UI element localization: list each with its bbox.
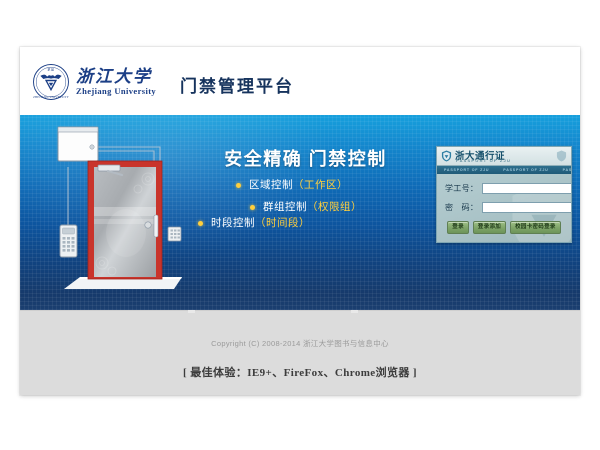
login-panel: 浙大通行证 PASSPORT OF ZJU PASSPORT OF ZJU PA… <box>436 146 572 243</box>
hero-banner: 安全精确 门禁控制 区域控制 （工作区） 群组控制 （权限组） 时段控制 （时间… <box>20 115 580 310</box>
shield-icon <box>441 150 452 162</box>
feature-item-group: 群组控制 （权限组） <box>198 199 413 215</box>
bullet-icon <box>250 205 255 210</box>
shield-watermark-icon <box>556 150 567 162</box>
password-input[interactable] <box>482 202 572 213</box>
site-footer: Copyright (C) 2008-2014 浙江大学图书与信息中心 [ 最佳… <box>20 310 580 395</box>
feature-label: 群组控制 <box>263 199 307 215</box>
login-title-en: PASSPORT OF ZJU <box>456 158 511 163</box>
svg-text:求是: 求是 <box>47 67 54 72</box>
feature-label: 区域控制 <box>249 177 293 193</box>
page-card: ZHEJIANG UNIVERSITY 求是 浙江大学 Zhejiang Uni… <box>20 47 580 395</box>
strip-text: PASSPORT OF ZJU <box>496 168 555 172</box>
feature-detail: （时间段） <box>255 215 310 231</box>
strip-text: PASSPORT OF ZJU <box>437 168 496 172</box>
userid-input[interactable] <box>482 183 572 194</box>
bullet-icon <box>236 183 241 188</box>
userid-label: 学工号： <box>445 183 478 194</box>
field-row-userid: 学工号： <box>445 183 563 194</box>
login-add-button[interactable]: 登录添加 <box>473 221 506 234</box>
footer-notch <box>351 310 358 313</box>
login-watermark-strip: PASSPORT OF ZJU PASSPORT OF ZJU PASSPORT… <box>437 166 571 174</box>
login-button[interactable]: 登录 <box>447 221 469 234</box>
university-name-en: Zhejiang University <box>76 86 156 97</box>
zju-seal-icon: ZHEJIANG UNIVERSITY 求是 <box>32 63 70 101</box>
hero-headline: 安全精确 门禁控制 <box>198 145 413 171</box>
bullet-icon <box>198 221 203 226</box>
university-name-cn: 浙江大学 <box>76 67 156 86</box>
login-button-row: 登录 登录添加 校园卡密码登录 <box>445 221 563 234</box>
footer-notch <box>188 310 195 313</box>
copyright-text: Copyright (C) 2008-2014 浙江大学图书与信息中心 <box>20 338 580 349</box>
feature-detail: （工作区） <box>293 177 348 193</box>
access-control-door-illustration <box>42 121 202 301</box>
feature-detail: （权限组） <box>307 199 362 215</box>
platform-title: 门禁管理平台 <box>180 72 294 97</box>
svg-text:ZHEJIANG UNIVERSITY: ZHEJIANG UNIVERSITY <box>33 95 69 99</box>
feature-label: 时段控制 <box>211 215 255 231</box>
hero-copy: 安全精确 门禁控制 区域控制 （工作区） 群组控制 （权限组） 时段控制 （时间… <box>198 145 413 231</box>
campus-card-login-button[interactable]: 校园卡密码登录 <box>510 221 561 234</box>
browser-compatibility-tip: [ 最佳体验：IE9+、FireFox、Chrome浏览器 ] <box>20 364 580 380</box>
login-form: 学工号： 密 码： 登录 登录添加 校园卡密码登录 <box>437 174 571 242</box>
login-panel-header: 浙大通行证 PASSPORT OF ZJU <box>437 147 571 166</box>
site-header: ZHEJIANG UNIVERSITY 求是 浙江大学 Zhejiang Uni… <box>20 47 580 115</box>
logo-text-block: 浙江大学 Zhejiang University <box>76 67 156 97</box>
password-label: 密 码： <box>445 202 478 213</box>
university-logo[interactable]: ZHEJIANG UNIVERSITY 求是 浙江大学 Zhejiang Uni… <box>32 63 156 101</box>
field-row-password: 密 码： <box>445 202 563 213</box>
strip-text: PASSPORT OF ZJU <box>556 168 571 172</box>
feature-item-timeslot: 时段控制 （时间段） <box>198 215 413 231</box>
feature-item-area: 区域控制 （工作区） <box>198 177 413 193</box>
